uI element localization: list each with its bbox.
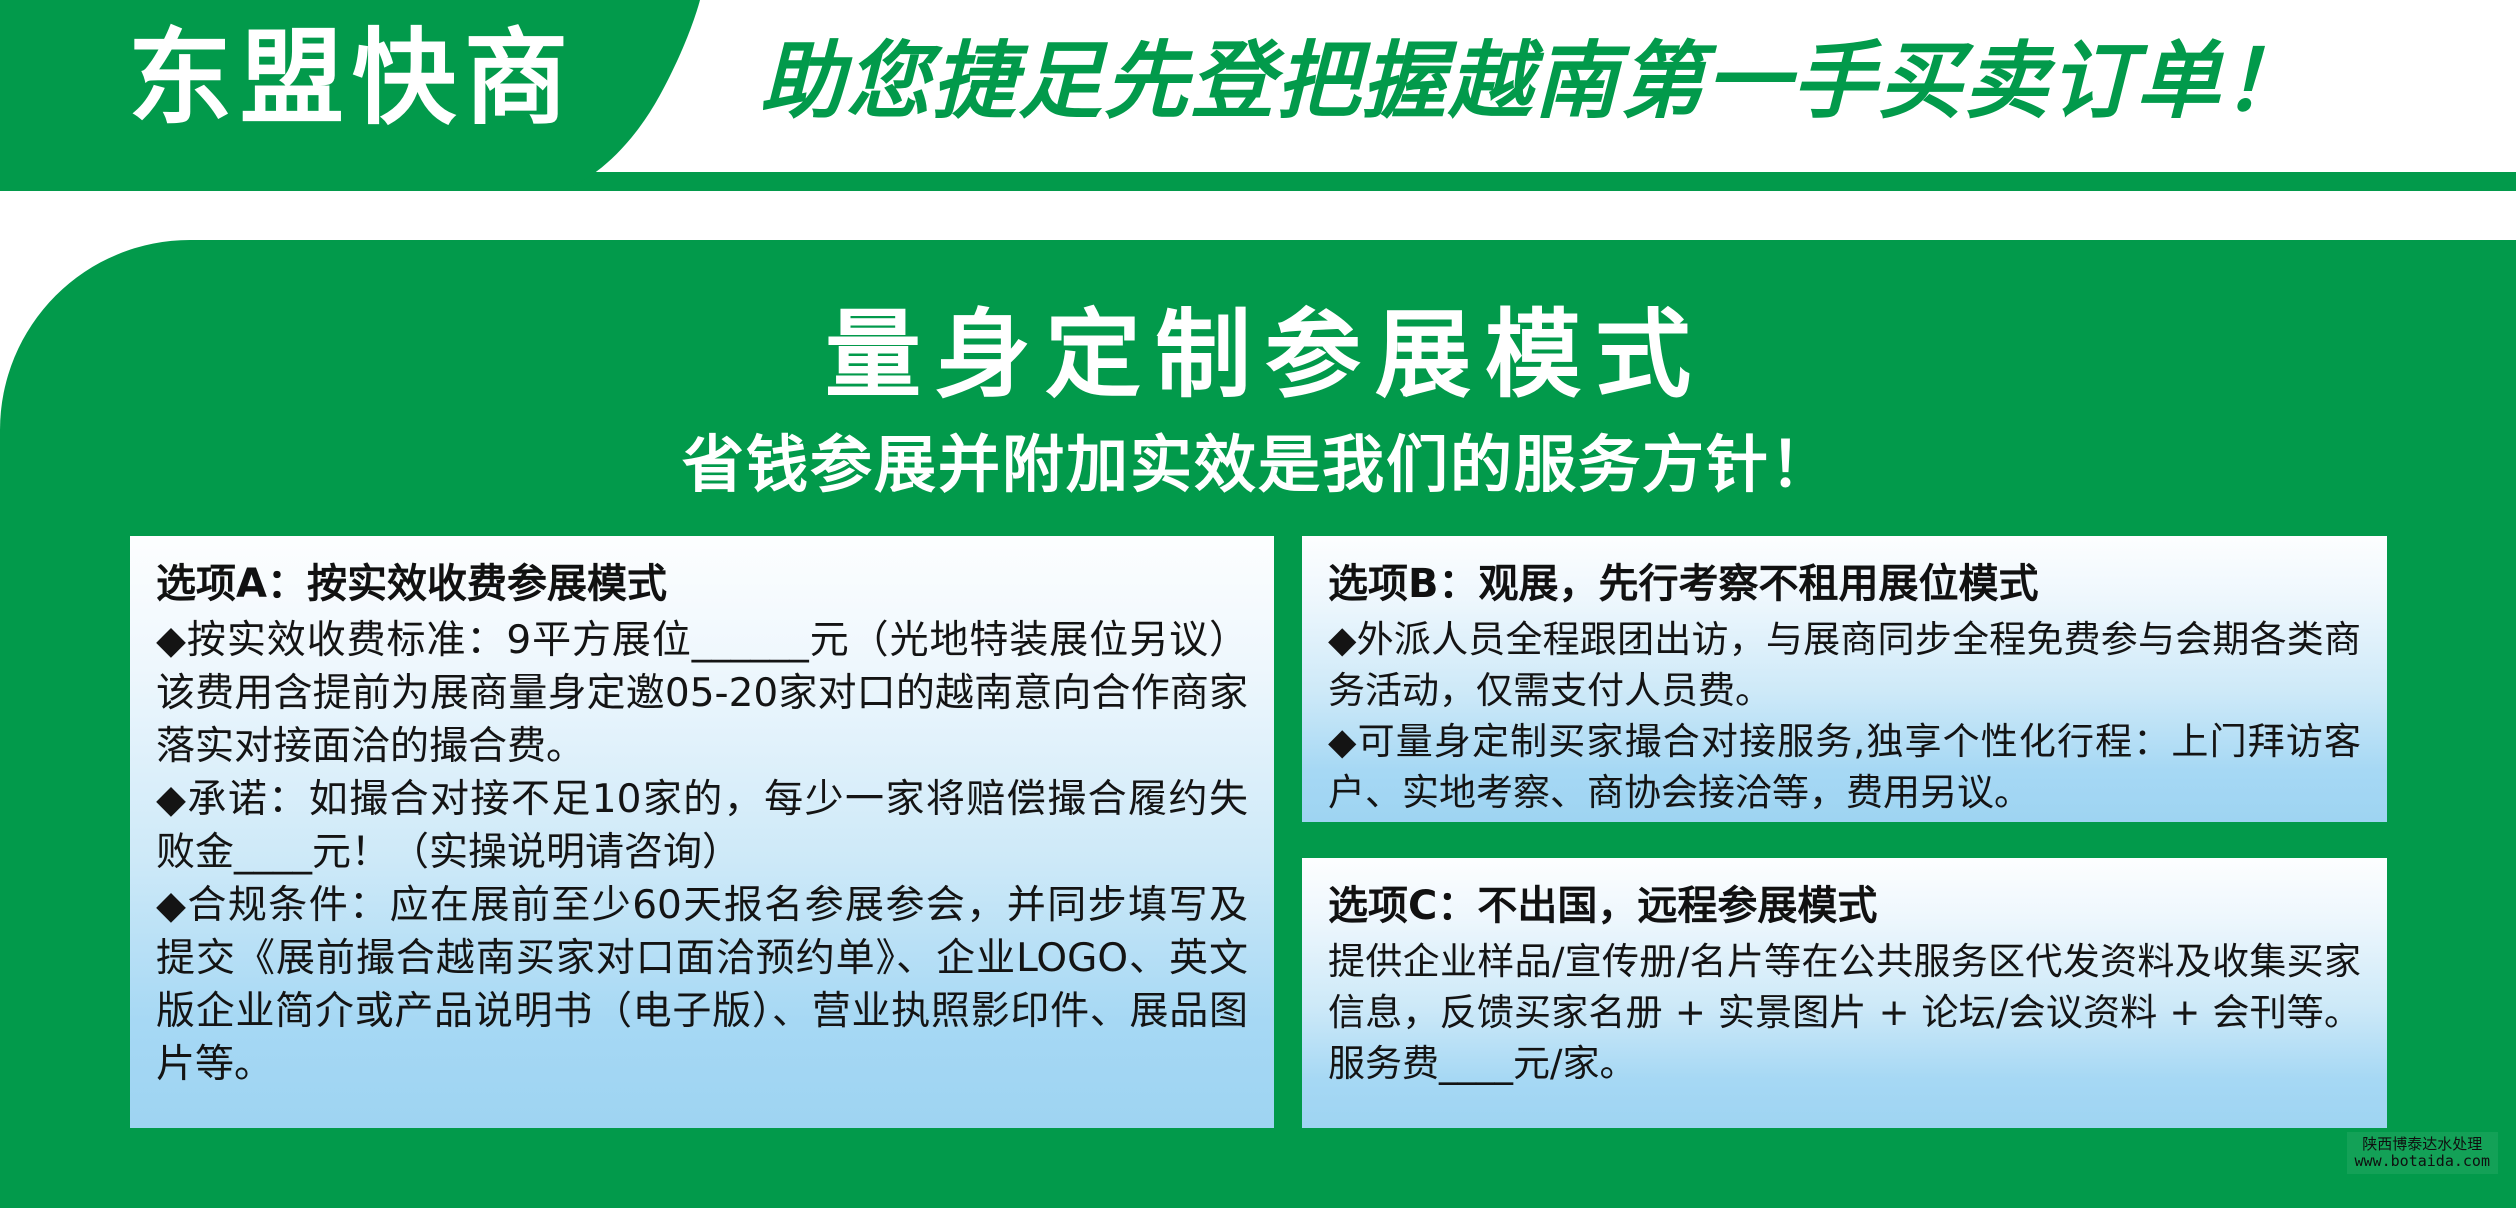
option-a-paragraph-1: ◆按实效收费标准：9平方展位______元（光地特装展位另议）该费用含提前为展商… <box>156 614 1248 773</box>
watermark-company: 陕西博泰达水处理 <box>2355 1136 2490 1153</box>
header-tagline: 助您捷足先登把握越南第一手买卖订单！ <box>760 26 2308 136</box>
option-a-title: 选项A：按实效收费参展模式 <box>156 558 1248 610</box>
watermark-url: www.botaida.com <box>2355 1153 2490 1170</box>
option-a-paragraph-3: ◆合规条件：应在展前至少60天报名参展参会，并同步填写及提交《展前撮合越南买家对… <box>156 879 1248 1091</box>
option-b-paragraph-1: ◆外派人员全程跟团出访，与展商同步全程免费参与会期各类商务活动，仅需支付人员费。 <box>1328 614 2361 716</box>
page-title: 量身定制参展模式 <box>0 300 2516 410</box>
option-a-paragraph-2: ◆承诺：如撮合对接不足10家的，每少一家将赔偿撮合履约失败金____元！（实操说… <box>156 773 1248 879</box>
option-b-paragraph-2: ◆可量身定制买家撮合对接服务,独享个性化行程：上门拜访客户、实地考察、商协会接洽… <box>1328 716 2361 818</box>
page-subtitle: 省钱参展并附加实效是我们的服务方针！ <box>0 428 2516 502</box>
option-c-card: 选项C：不出国，远程参展模式 提供企业样品/宣传册/名片等在公共服务区代发资料及… <box>1302 858 2387 1128</box>
header-band: 东盟快商 助您捷足先登把握越南第一手买卖订单！ <box>0 0 2516 190</box>
option-c-title: 选项C：不出国，远程参展模式 <box>1328 880 2361 932</box>
option-b-title: 选项B：观展，先行考察不租用展位模式 <box>1328 558 2361 610</box>
option-a-card: 选项A：按实效收费参展模式 ◆按实效收费标准：9平方展位______元（光地特装… <box>130 536 1274 1128</box>
watermark: 陕西博泰达水处理 www.botaida.com <box>2347 1132 2498 1175</box>
option-b-card: 选项B：观展，先行考察不租用展位模式 ◆外派人员全程跟团出访，与展商同步全程免费… <box>1302 536 2387 822</box>
option-c-paragraph-1: 提供企业样品/宣传册/名片等在公共服务区代发资料及收集买家信息，反馈买家名册 +… <box>1328 936 2361 1089</box>
brand-logo-text: 东盟快商 <box>128 18 576 138</box>
poster-root: 东盟快商 助您捷足先登把握越南第一手买卖订单！ 量身定制参展模式 省钱参展并附加… <box>0 0 2516 1208</box>
